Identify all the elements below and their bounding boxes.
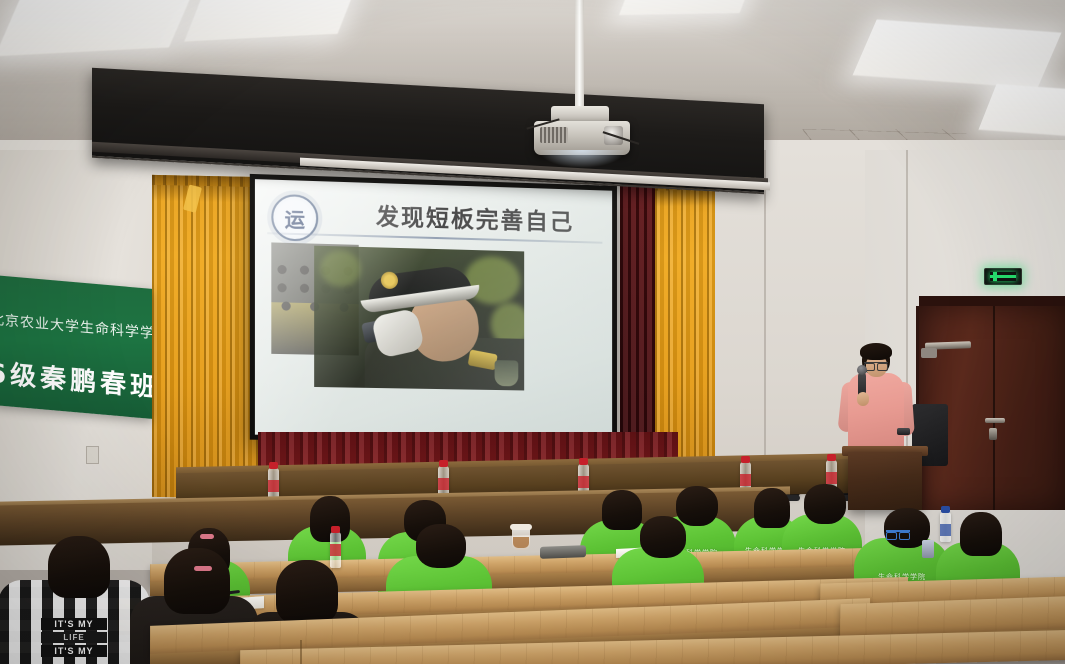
door-lock[interactable] bbox=[989, 428, 997, 440]
soldier-cap-badge bbox=[381, 272, 398, 289]
presenter-wristwatch bbox=[897, 428, 910, 435]
presenter-hand bbox=[857, 392, 869, 406]
soldier-epaulet bbox=[468, 349, 498, 370]
print-line-1: IT'S MY bbox=[41, 618, 107, 630]
stage-curtain-gold-left bbox=[152, 175, 264, 499]
student-head bbox=[804, 484, 846, 524]
emergency-exit-sign bbox=[984, 268, 1022, 285]
presenter-hair bbox=[860, 343, 892, 360]
door-closer-body bbox=[921, 348, 937, 358]
hair-clip bbox=[194, 566, 212, 571]
shirt-graphic-print: IT'S MY LIFE IT'S MY bbox=[41, 618, 107, 659]
curtain-shadow bbox=[152, 175, 264, 203]
projector-mount-pole bbox=[575, 0, 584, 112]
hair-clip bbox=[200, 534, 214, 539]
soldier-arm-patch bbox=[495, 360, 519, 386]
student-head bbox=[602, 490, 642, 530]
banner-line-1: 北京农业大学生命科学学院 bbox=[0, 309, 152, 344]
student-head bbox=[416, 524, 466, 568]
banner-line-2: 6级秦鹏春班 bbox=[0, 353, 152, 406]
projection-screen-frame: 运 发现短板完善自己 bbox=[250, 174, 617, 444]
presenter-glasses bbox=[864, 362, 888, 369]
student-head bbox=[754, 488, 790, 528]
student-head bbox=[960, 512, 1002, 556]
drink-cup[interactable] bbox=[512, 528, 530, 550]
water-bottle[interactable] bbox=[940, 512, 951, 542]
projection-screen: 运 发现短板完善自己 bbox=[255, 179, 612, 439]
door-header bbox=[919, 296, 1065, 306]
light-switch[interactable] bbox=[86, 446, 99, 464]
smartphone[interactable] bbox=[922, 540, 934, 558]
student-head bbox=[640, 516, 686, 558]
print-line-3: IT'S MY bbox=[41, 645, 107, 657]
water-bottle[interactable] bbox=[330, 532, 341, 568]
ceiling-light-panel bbox=[619, 0, 753, 15]
slide-title: 发现短板完善自己 bbox=[345, 196, 605, 238]
projector-light-glow bbox=[538, 150, 626, 168]
water-bottle[interactable] bbox=[268, 468, 279, 500]
class-banner: 北京农业大学生命科学学院 6级秦鹏春班 bbox=[0, 275, 152, 419]
slide-soldier-photo bbox=[314, 246, 524, 391]
lectern bbox=[848, 452, 922, 510]
student-head bbox=[164, 548, 230, 614]
lecture-hall-photo: 运 发现短板完善自己 bbox=[0, 0, 1065, 664]
projector-vent bbox=[540, 127, 568, 143]
presenter-torso bbox=[848, 373, 904, 455]
blue-glasses bbox=[886, 530, 910, 538]
exit-running-man-icon bbox=[990, 272, 1016, 281]
desk-microphone[interactable] bbox=[540, 545, 586, 559]
desk-seam bbox=[300, 640, 302, 664]
print-line-2: LIFE bbox=[41, 632, 107, 643]
door-handle[interactable] bbox=[985, 418, 1005, 423]
student-head bbox=[276, 560, 338, 624]
student-head bbox=[676, 486, 718, 526]
door-center-seam bbox=[993, 306, 995, 510]
student-head bbox=[48, 536, 110, 598]
